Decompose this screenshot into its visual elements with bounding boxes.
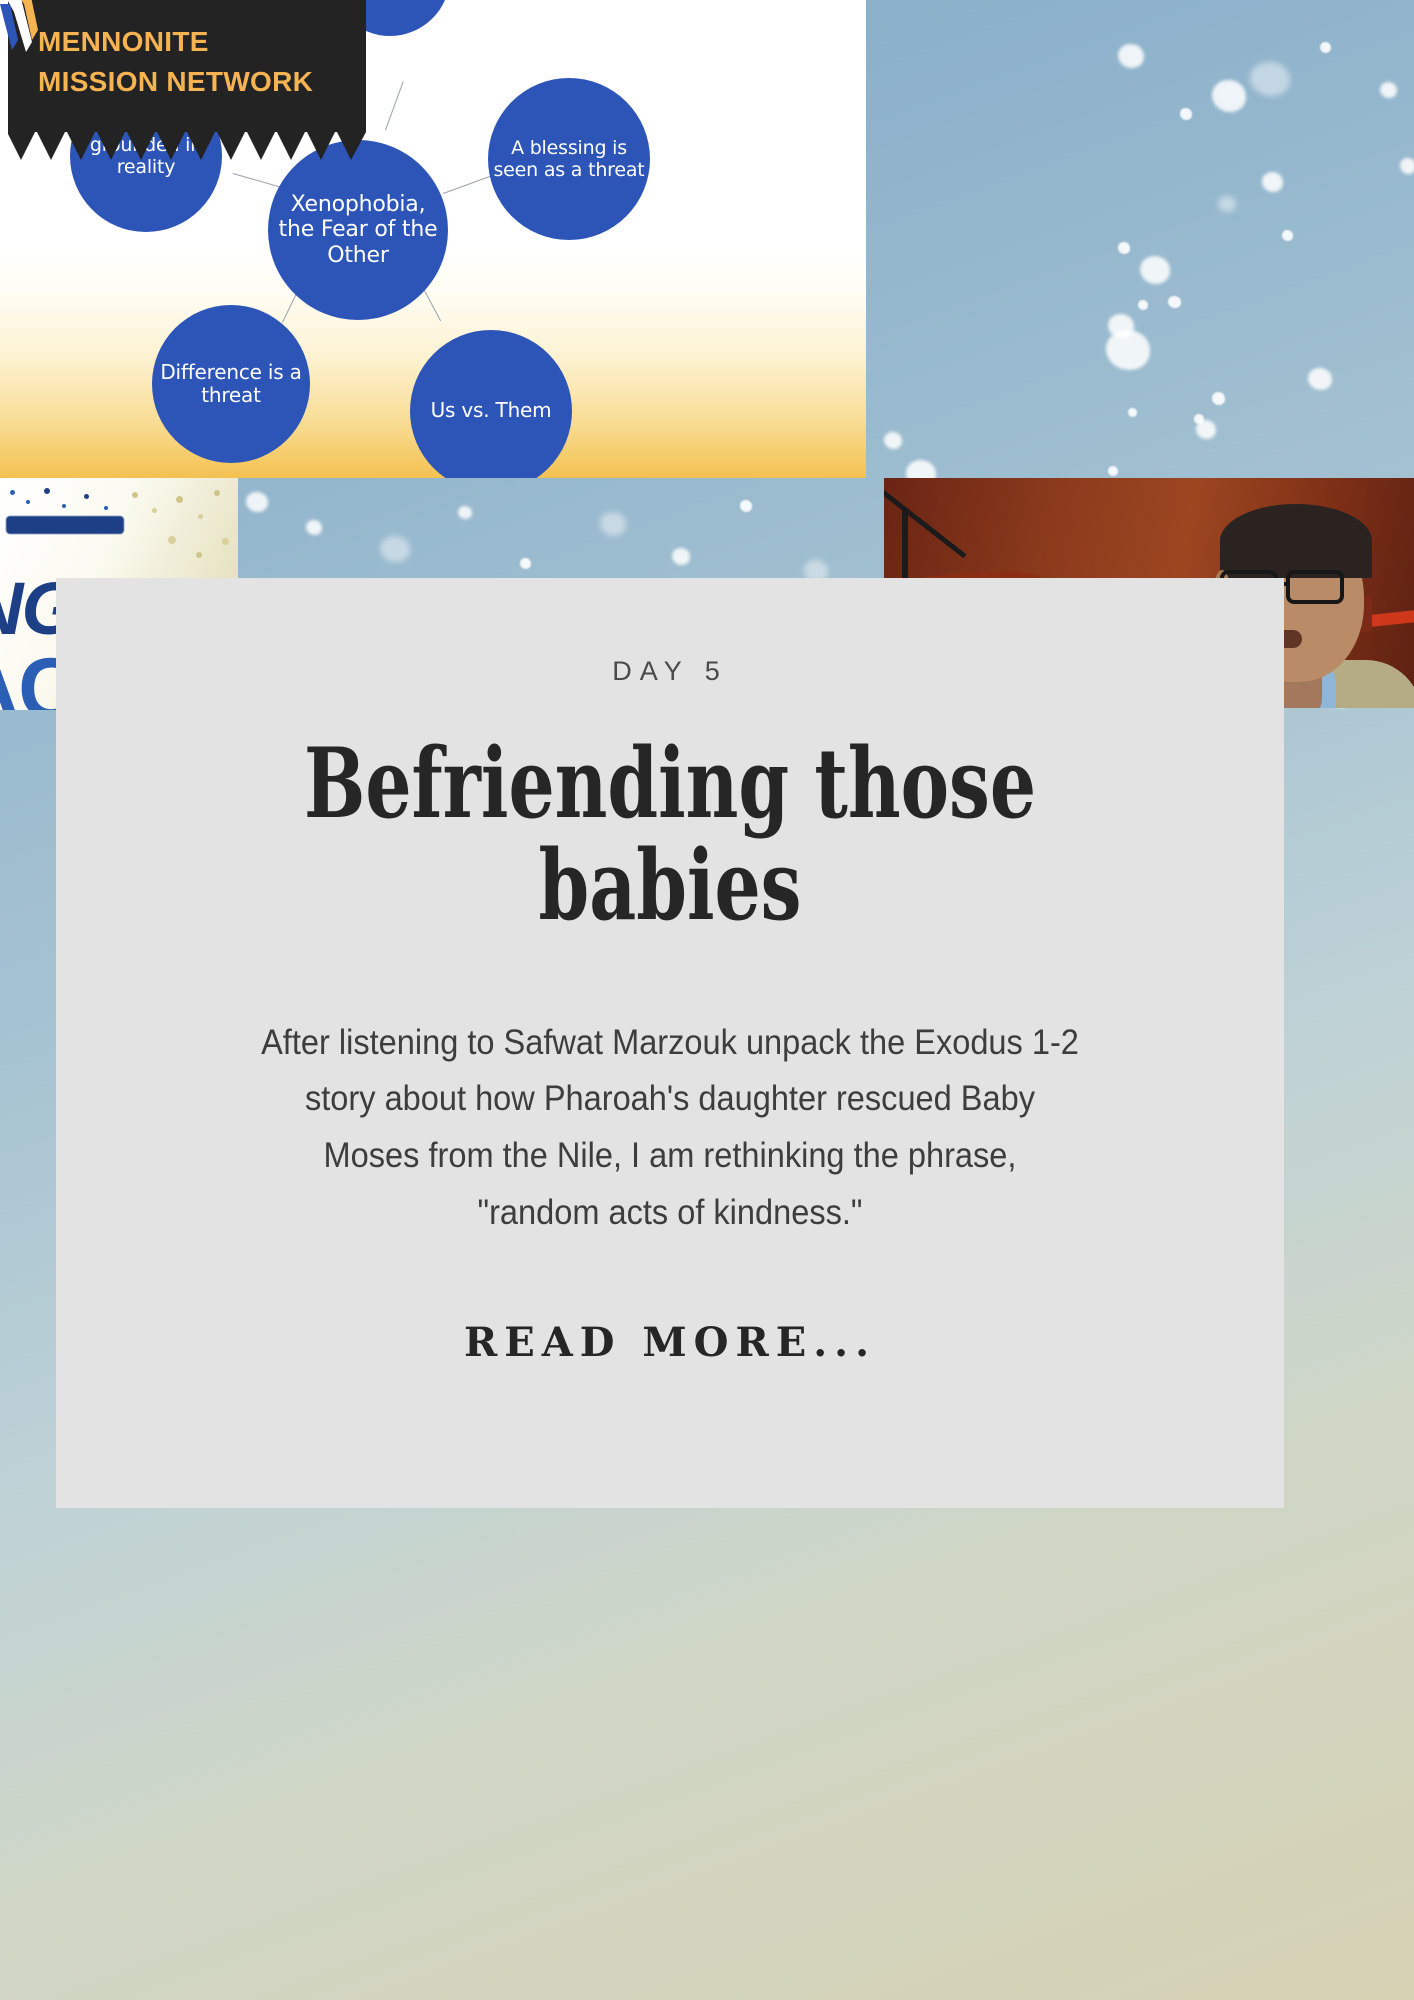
node-label: Us vs. Them [431,399,552,422]
bokeh-dot [458,506,472,519]
promo-bar [6,516,124,534]
speck [62,504,66,508]
speck [10,490,15,495]
day-label: DAY 5 [612,656,728,687]
page-title: Befriending those babies [275,733,1065,937]
mennonite-mission-network-logo: MENNONITE MISSION NETWORK [8,0,366,156]
bokeh-dot [1106,330,1150,370]
speck [132,492,138,498]
speck [44,488,50,494]
bokeh-dot [1180,108,1192,120]
bokeh-dot [1118,44,1144,68]
logo-text-block: MENNONITE MISSION NETWORK [8,22,366,102]
bokeh-dot [600,512,626,536]
bokeh-dot [1380,82,1397,98]
speck [176,496,183,503]
speck [26,500,30,504]
read-more-link[interactable]: READ MORE... [464,1319,876,1366]
bokeh-dot [740,500,752,512]
speck [84,494,89,499]
bokeh-dot [1308,368,1332,390]
bokeh-dot [380,536,410,562]
bokeh-dot [672,548,690,565]
bokeh-dot [884,432,902,449]
bokeh-dot [1212,392,1225,405]
bokeh-dot [520,558,531,569]
diagram-node-bottom-right: Us vs. Them [410,330,572,478]
diagram-node-right: A blessing is seen as a threat [488,78,650,240]
body-text: After listening to Safwat Marzouk unpack… [261,1015,1079,1242]
logo-line-2: MISSION NETWORK [38,62,366,102]
bokeh-dot [1212,80,1246,112]
bokeh-dot [1140,256,1170,284]
node-label: A blessing is seen as a threat [492,137,646,181]
bokeh-dot [1128,408,1137,417]
bokeh-dot [1262,172,1283,192]
bokeh-dot [1250,62,1290,96]
bokeh-dot [1168,296,1181,308]
speck [196,552,202,558]
glasses-icon [1286,570,1344,604]
speck [222,538,229,545]
diagram-node-bottom-left: Difference is a threat [152,305,310,463]
bokeh-dot [1196,420,1216,439]
logo-line-1: MENNONITE [38,22,366,62]
bokeh-dot [1108,466,1118,476]
speck [168,536,176,544]
speck [104,506,108,510]
diagram-node-center: Xenophobia, the Fear of the Other [268,140,448,320]
bokeh-dot [306,520,322,535]
speck [152,508,157,513]
speck [214,490,220,496]
node-label: Xenophobia, the Fear of the Other [272,192,444,269]
bokeh-dot [1400,158,1414,174]
diagram-edge [385,81,404,130]
bokeh-dot [1218,196,1236,212]
bokeh-dot [1118,242,1130,254]
devotional-card: DAY 5 Befriending those babies After lis… [56,578,1284,1508]
bokeh-dot [1138,300,1148,310]
bokeh-dot [246,492,268,512]
zigzag-edge-icon [8,126,366,164]
bokeh-dot [1320,42,1331,53]
speaker-hair [1220,504,1372,578]
bokeh-dot [1282,230,1293,241]
speck [198,514,203,519]
node-label: Difference is a threat [156,361,306,407]
